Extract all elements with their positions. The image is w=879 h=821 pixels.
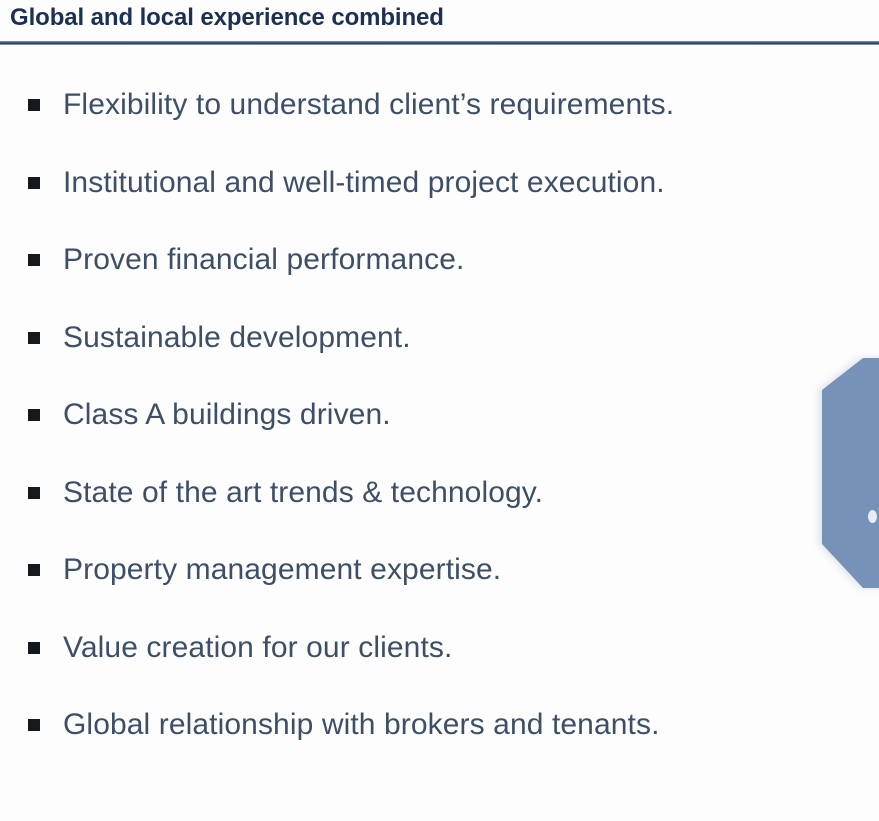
list-item-label: Institutional and well-timed project exe… [63, 158, 665, 208]
list-item-label: Property management expertise. [63, 545, 501, 595]
list-item-label: Proven financial performance. [63, 235, 464, 285]
list-item: Sustainable development. [0, 313, 879, 391]
list-item: Property management expertise. [0, 545, 879, 623]
list-item-label: State of the art trends & technology. [63, 468, 543, 518]
title-divider [0, 41, 879, 45]
list-item: Institutional and well-timed project exe… [0, 158, 879, 236]
list-item-label: Value creation for our clients. [63, 623, 452, 673]
list-item-label: Class A buildings driven. [63, 390, 391, 440]
list-item: Proven financial performance. [0, 235, 879, 313]
square-bullet-icon [28, 254, 40, 266]
square-bullet-icon [28, 332, 40, 344]
list-item-label: Sustainable development. [63, 313, 411, 363]
list-item: Class A buildings driven. [0, 390, 879, 468]
list-item: Value creation for our clients. [0, 623, 879, 701]
slide-header: Global and local experience combined [0, 0, 879, 48]
page-title: Global and local experience combined [10, 3, 444, 33]
list-item-label: Global relationship with brokers and ten… [63, 700, 660, 750]
list-item: Flexibility to understand client’s requi… [0, 80, 879, 158]
square-bullet-icon [28, 409, 40, 421]
square-bullet-icon [28, 177, 40, 189]
bullet-list: Flexibility to understand client’s requi… [0, 80, 879, 778]
square-bullet-icon [28, 487, 40, 499]
list-item: Global relationship with brokers and ten… [0, 700, 879, 778]
square-bullet-icon [28, 564, 40, 576]
list-item-label: Flexibility to understand client’s requi… [63, 80, 674, 130]
square-bullet-icon [28, 642, 40, 654]
square-bullet-icon [28, 719, 40, 731]
square-bullet-icon [28, 99, 40, 111]
slide-canvas: Global and local experience combined Fle… [0, 0, 879, 821]
list-item: State of the art trends & technology. [0, 468, 879, 546]
